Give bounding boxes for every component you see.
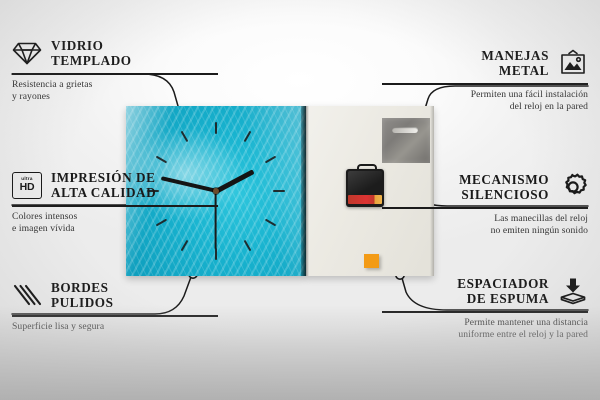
feature-divider (382, 83, 588, 84)
feature-title: IMPRESIÓN DE ALTA CALIDAD (51, 170, 156, 200)
tick-mark (244, 240, 252, 251)
feature-desc-line1: Resistencia a grietas (12, 79, 218, 92)
feature-desc-line2: del reloj en la pared (382, 101, 588, 114)
tick-mark (265, 156, 276, 164)
tick-mark (265, 219, 276, 227)
battery-red (348, 195, 382, 204)
feature-desc-line2: e imagen vívida (12, 223, 218, 236)
feature-desc-line1: Superficie lisa y segura (12, 321, 218, 334)
feature-desc-line2: y rayones (12, 91, 218, 104)
feature-manejas-metal: MANEJAS METAL Permiten una fácil instala… (382, 48, 588, 114)
tick-mark (273, 190, 285, 192)
feature-vidrio-templado: VIDRIO TEMPLADO Resistencia a grietas y … (12, 38, 218, 104)
feature-divider (12, 73, 218, 74)
wall-hanger-icon (558, 48, 588, 78)
feature-desc-line2: no emiten ningún sonido (382, 225, 588, 238)
ultra-hd-icon: ultra HD (12, 170, 42, 200)
foam-spacer-orange (364, 254, 379, 268)
feature-title-line2: METAL (481, 63, 549, 78)
feature-bordes-pulidos: BORDES PULIDOS Superficie lisa y segura (12, 280, 218, 333)
feature-description: Permite mantener una distancia uniforme … (382, 317, 588, 342)
feature-divider (12, 315, 218, 316)
feature-desc-line1: Las manecillas del reloj (382, 213, 588, 226)
feature-description: Resistencia a grietas y rayones (12, 79, 218, 104)
polished-edges-icon (12, 280, 42, 310)
feature-title-line2: DE ESPUMA (457, 291, 549, 306)
feature-title-line1: BORDES (51, 280, 113, 295)
feature-desc-line1: Permite mantener una distancia (382, 317, 588, 330)
feature-title-line2: TEMPLADO (51, 53, 132, 68)
feature-description: Colores intensos e imagen vívida (12, 211, 218, 236)
gear-icon (558, 172, 588, 202)
feature-description: Superficie lisa y segura (12, 321, 218, 334)
feature-title: MANEJAS METAL (481, 48, 549, 78)
metal-hanger-plate (382, 118, 430, 163)
feature-title-line2: PULIDOS (51, 295, 113, 310)
feature-title: VIDRIO TEMPLADO (51, 38, 132, 68)
feature-description: Las manecillas del reloj no emiten ningú… (382, 213, 588, 238)
feature-divider (12, 205, 218, 206)
feature-mecanismo-silencioso: MECANISMO SILENCIOSO Las manecillas del … (382, 172, 588, 238)
feature-title-line1: ESPACIADOR (457, 276, 549, 291)
feature-title: ESPACIADOR DE ESPUMA (457, 276, 549, 306)
diamond-icon (12, 38, 42, 68)
quartz-movement-box (346, 169, 384, 207)
hanger-slot (392, 127, 418, 133)
clock-hour-hand (215, 169, 254, 193)
feature-desc-line1: Permiten una fácil instalación (382, 89, 588, 102)
tick-mark (181, 131, 189, 142)
feature-title: MECANISMO SILENCIOSO (459, 172, 549, 202)
feature-title-line1: MECANISMO (459, 172, 549, 187)
tick-mark (156, 156, 167, 164)
tick-mark (181, 240, 189, 251)
feature-title-line1: VIDRIO (51, 38, 132, 53)
back-left-edge (306, 106, 309, 276)
tick-mark (215, 248, 217, 260)
feature-title-line2: ALTA CALIDAD (51, 185, 156, 200)
foam-spacer-icon (558, 276, 588, 306)
feature-espaciador-espuma: ESPACIADOR DE ESPUMA Permite mantener un… (382, 276, 588, 342)
product-infographic: VIDRIO TEMPLADO Resistencia a grietas y … (0, 0, 600, 400)
tick-mark (215, 122, 217, 134)
ultra-hd-icon-bottom-label: HD (20, 182, 35, 193)
feature-impresion-alta-calidad: ultra HD IMPRESIÓN DE ALTA CALIDAD Color… (12, 170, 218, 236)
feature-title: BORDES PULIDOS (51, 280, 113, 310)
feature-title-line2: SILENCIOSO (459, 187, 549, 202)
feature-divider (382, 311, 588, 312)
feature-desc-line1: Colores intensos (12, 211, 218, 224)
feature-description: Permiten una fácil instalación del reloj… (382, 89, 588, 114)
feature-desc-line2: uniforme entre el reloj y la pared (382, 329, 588, 342)
tick-mark (244, 131, 252, 142)
feature-title-line1: MANEJAS (481, 48, 549, 63)
feature-divider (382, 207, 588, 208)
feature-title-line1: IMPRESIÓN DE (51, 170, 156, 185)
